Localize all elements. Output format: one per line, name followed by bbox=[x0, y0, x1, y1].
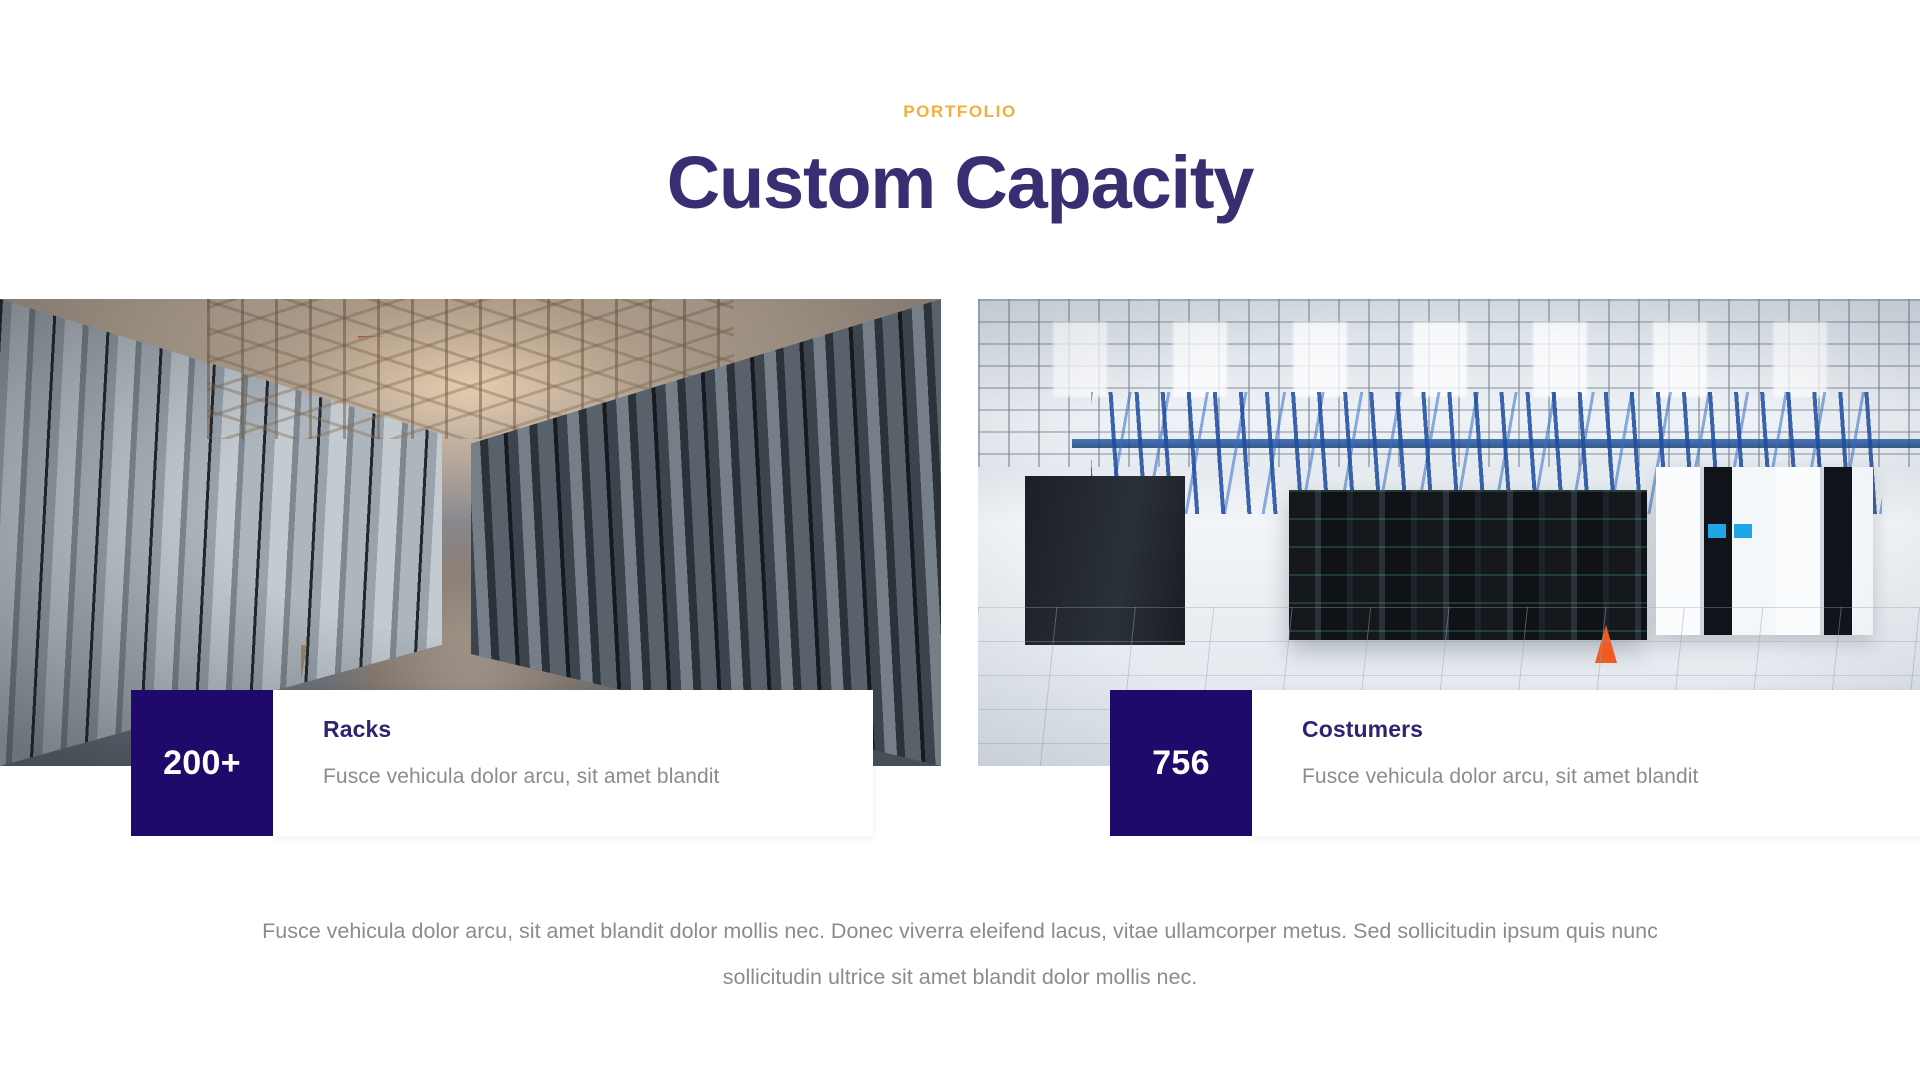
section-paragraph: Fusce vehicula dolor arcu, sit amet blan… bbox=[220, 908, 1700, 1000]
stat-card-racks: 200+ Racks Fusce vehicula dolor arcu, si… bbox=[131, 690, 873, 836]
page-title: Custom Capacity bbox=[0, 135, 1920, 231]
stat-title: Costumers bbox=[1302, 716, 1920, 743]
section-eyebrow: PORTFOLIO bbox=[0, 102, 1920, 122]
stat-description: Fusce vehicula dolor arcu, sit amet blan… bbox=[1302, 765, 1920, 789]
stat-value-badge: 200+ bbox=[131, 690, 273, 836]
stat-title: Racks bbox=[323, 716, 873, 743]
portfolio-section: PORTFOLIO Custom Capacity bbox=[0, 0, 1920, 1080]
stat-value-badge: 756 bbox=[1110, 690, 1252, 836]
stat-body: Racks Fusce vehicula dolor arcu, sit ame… bbox=[273, 690, 873, 836]
stat-description: Fusce vehicula dolor arcu, sit amet blan… bbox=[323, 765, 873, 789]
stat-body: Costumers Fusce vehicula dolor arcu, sit… bbox=[1252, 690, 1920, 836]
stat-card-costumers: 756 Costumers Fusce vehicula dolor arcu,… bbox=[1110, 690, 1920, 836]
